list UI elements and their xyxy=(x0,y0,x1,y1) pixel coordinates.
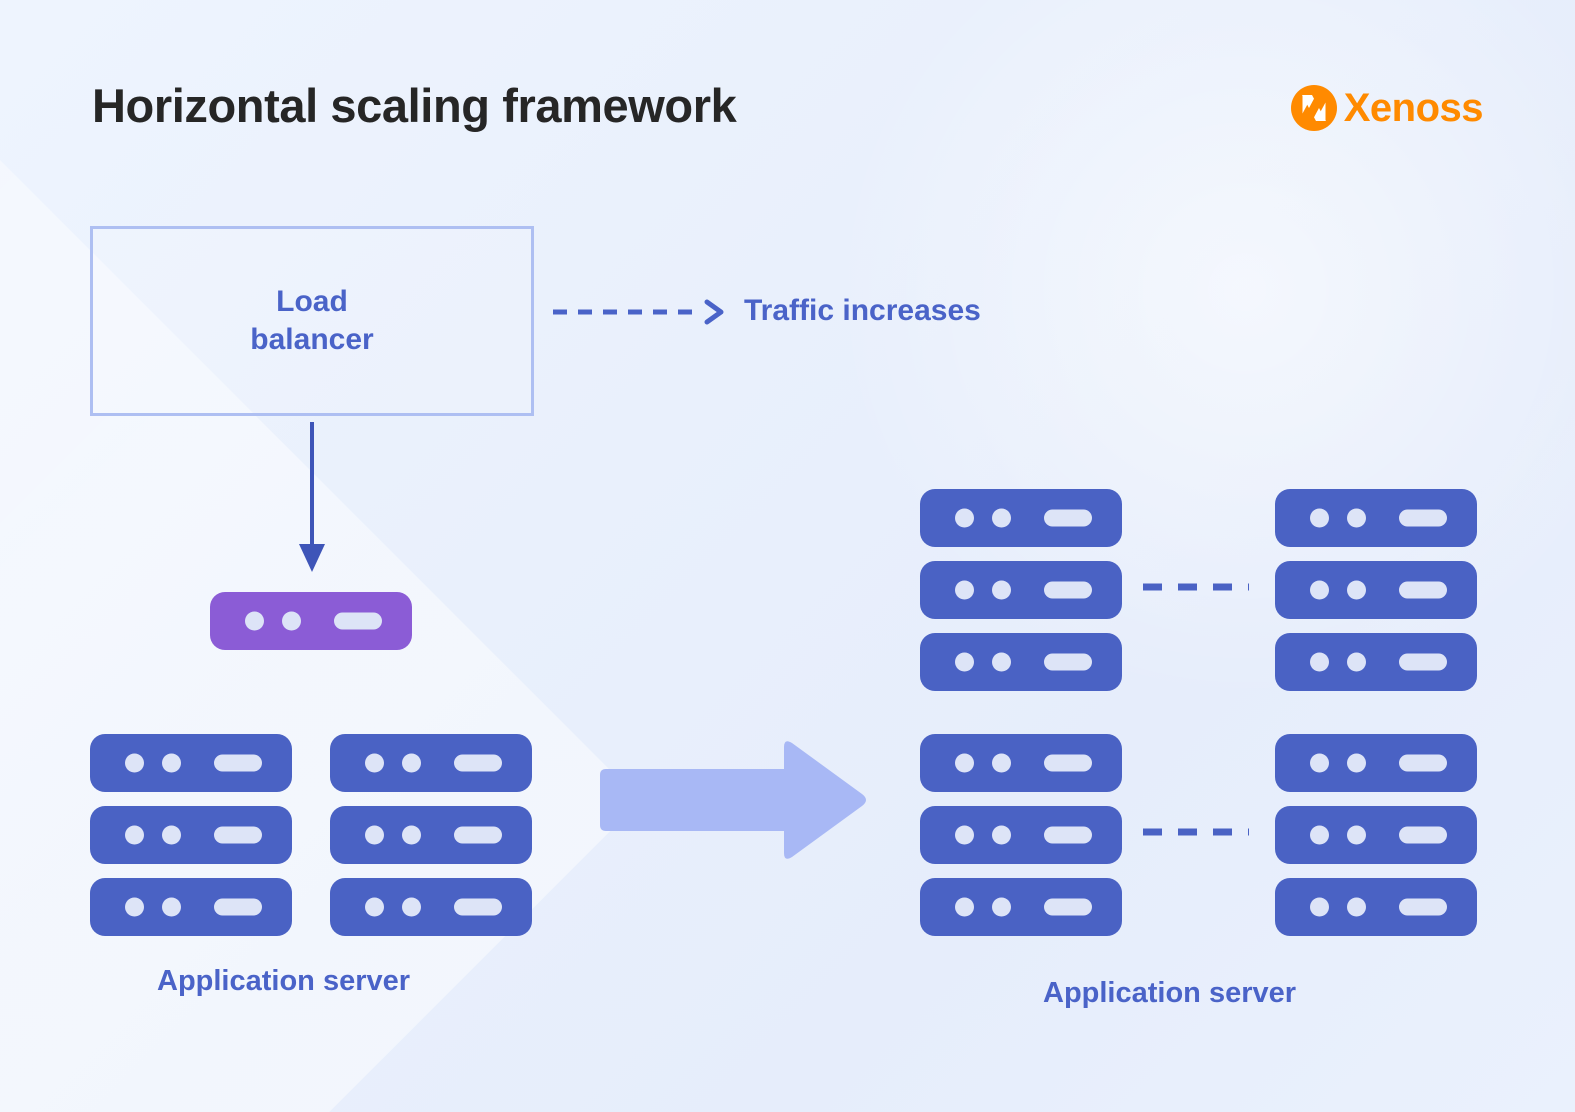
server-led-icon xyxy=(1310,898,1329,917)
server-led-icon xyxy=(955,509,974,528)
server-unit xyxy=(90,806,292,864)
server-led-icon xyxy=(402,754,421,773)
server-led-icon xyxy=(365,754,384,773)
arrow-right-icon xyxy=(594,737,870,863)
server-unit xyxy=(330,734,532,792)
server-unit xyxy=(1275,878,1477,936)
server-unit xyxy=(1275,633,1477,691)
server-led-icon xyxy=(402,898,421,917)
server-unit xyxy=(1275,806,1477,864)
server-led-icon xyxy=(1310,509,1329,528)
server-slot-icon xyxy=(1044,654,1092,671)
server-unit-highlight xyxy=(210,592,412,650)
server-unit xyxy=(330,806,532,864)
server-unit xyxy=(920,734,1122,792)
server-slot-icon xyxy=(214,899,262,916)
server-slot-icon xyxy=(1399,654,1447,671)
right-cluster-label: Application server xyxy=(1043,977,1296,1010)
server-led-icon xyxy=(1347,754,1366,773)
server-led-icon xyxy=(992,826,1011,845)
server-led-icon xyxy=(1347,509,1366,528)
server-slot-icon xyxy=(454,899,502,916)
server-slot-icon xyxy=(1044,899,1092,916)
server-unit xyxy=(330,878,532,936)
diagram-canvas: Horizontal scaling framework Xenoss Load… xyxy=(0,0,1575,1112)
load-balancer-label-line2: balancer xyxy=(250,321,373,359)
server-led-icon xyxy=(162,826,181,845)
dashed-connector-icon xyxy=(1141,828,1251,836)
server-unit xyxy=(1275,489,1477,547)
server-led-icon xyxy=(955,581,974,600)
server-slot-icon xyxy=(1044,755,1092,772)
server-led-icon xyxy=(955,826,974,845)
load-balancer-label: Load balancer xyxy=(250,283,373,360)
brand-logo: Xenoss xyxy=(1290,84,1483,132)
server-led-icon xyxy=(125,754,144,773)
server-slot-icon xyxy=(1399,582,1447,599)
brand-wordmark: Xenoss xyxy=(1344,88,1483,128)
server-unit xyxy=(920,489,1122,547)
server-led-icon xyxy=(162,898,181,917)
arrow-down-icon xyxy=(291,420,333,576)
server-led-icon xyxy=(125,898,144,917)
server-led-icon xyxy=(282,612,301,631)
server-slot-icon xyxy=(1044,827,1092,844)
server-led-icon xyxy=(992,653,1011,672)
server-led-icon xyxy=(1347,826,1366,845)
server-slot-icon xyxy=(334,613,382,630)
server-unit xyxy=(1275,561,1477,619)
server-led-icon xyxy=(992,581,1011,600)
server-led-icon xyxy=(992,754,1011,773)
server-led-icon xyxy=(1347,898,1366,917)
server-led-icon xyxy=(125,826,144,845)
server-unit xyxy=(920,806,1122,864)
left-cluster-label: Application server xyxy=(157,965,410,998)
xenoss-logo-icon xyxy=(1290,84,1338,132)
server-slot-icon xyxy=(1399,510,1447,527)
server-slot-icon xyxy=(1399,755,1447,772)
server-led-icon xyxy=(1347,581,1366,600)
server-led-icon xyxy=(992,509,1011,528)
server-led-icon xyxy=(162,754,181,773)
server-led-icon xyxy=(1310,581,1329,600)
server-unit xyxy=(920,633,1122,691)
server-unit xyxy=(920,561,1122,619)
server-led-icon xyxy=(955,653,974,672)
traffic-increases-label: Traffic increases xyxy=(744,294,981,328)
server-led-icon xyxy=(1347,653,1366,672)
server-unit xyxy=(90,878,292,936)
dashed-arrow-right-icon xyxy=(551,296,731,328)
server-led-icon xyxy=(365,898,384,917)
server-unit xyxy=(920,878,1122,936)
server-slot-icon xyxy=(1044,510,1092,527)
server-led-icon xyxy=(365,826,384,845)
server-led-icon xyxy=(245,612,264,631)
server-slot-icon xyxy=(454,827,502,844)
dashed-connector-icon xyxy=(1141,583,1251,591)
server-led-icon xyxy=(1310,653,1329,672)
server-slot-icon xyxy=(1399,899,1447,916)
load-balancer-box: Load balancer xyxy=(90,226,534,416)
server-led-icon xyxy=(992,898,1011,917)
page-title: Horizontal scaling framework xyxy=(92,78,736,133)
server-led-icon xyxy=(955,754,974,773)
server-slot-icon xyxy=(1399,827,1447,844)
server-slot-icon xyxy=(214,755,262,772)
server-slot-icon xyxy=(454,755,502,772)
server-slot-icon xyxy=(214,827,262,844)
server-led-icon xyxy=(1310,826,1329,845)
server-led-icon xyxy=(955,898,974,917)
server-led-icon xyxy=(1310,754,1329,773)
server-unit xyxy=(90,734,292,792)
server-slot-icon xyxy=(1044,582,1092,599)
server-led-icon xyxy=(402,826,421,845)
server-unit xyxy=(1275,734,1477,792)
load-balancer-label-line1: Load xyxy=(250,283,373,321)
